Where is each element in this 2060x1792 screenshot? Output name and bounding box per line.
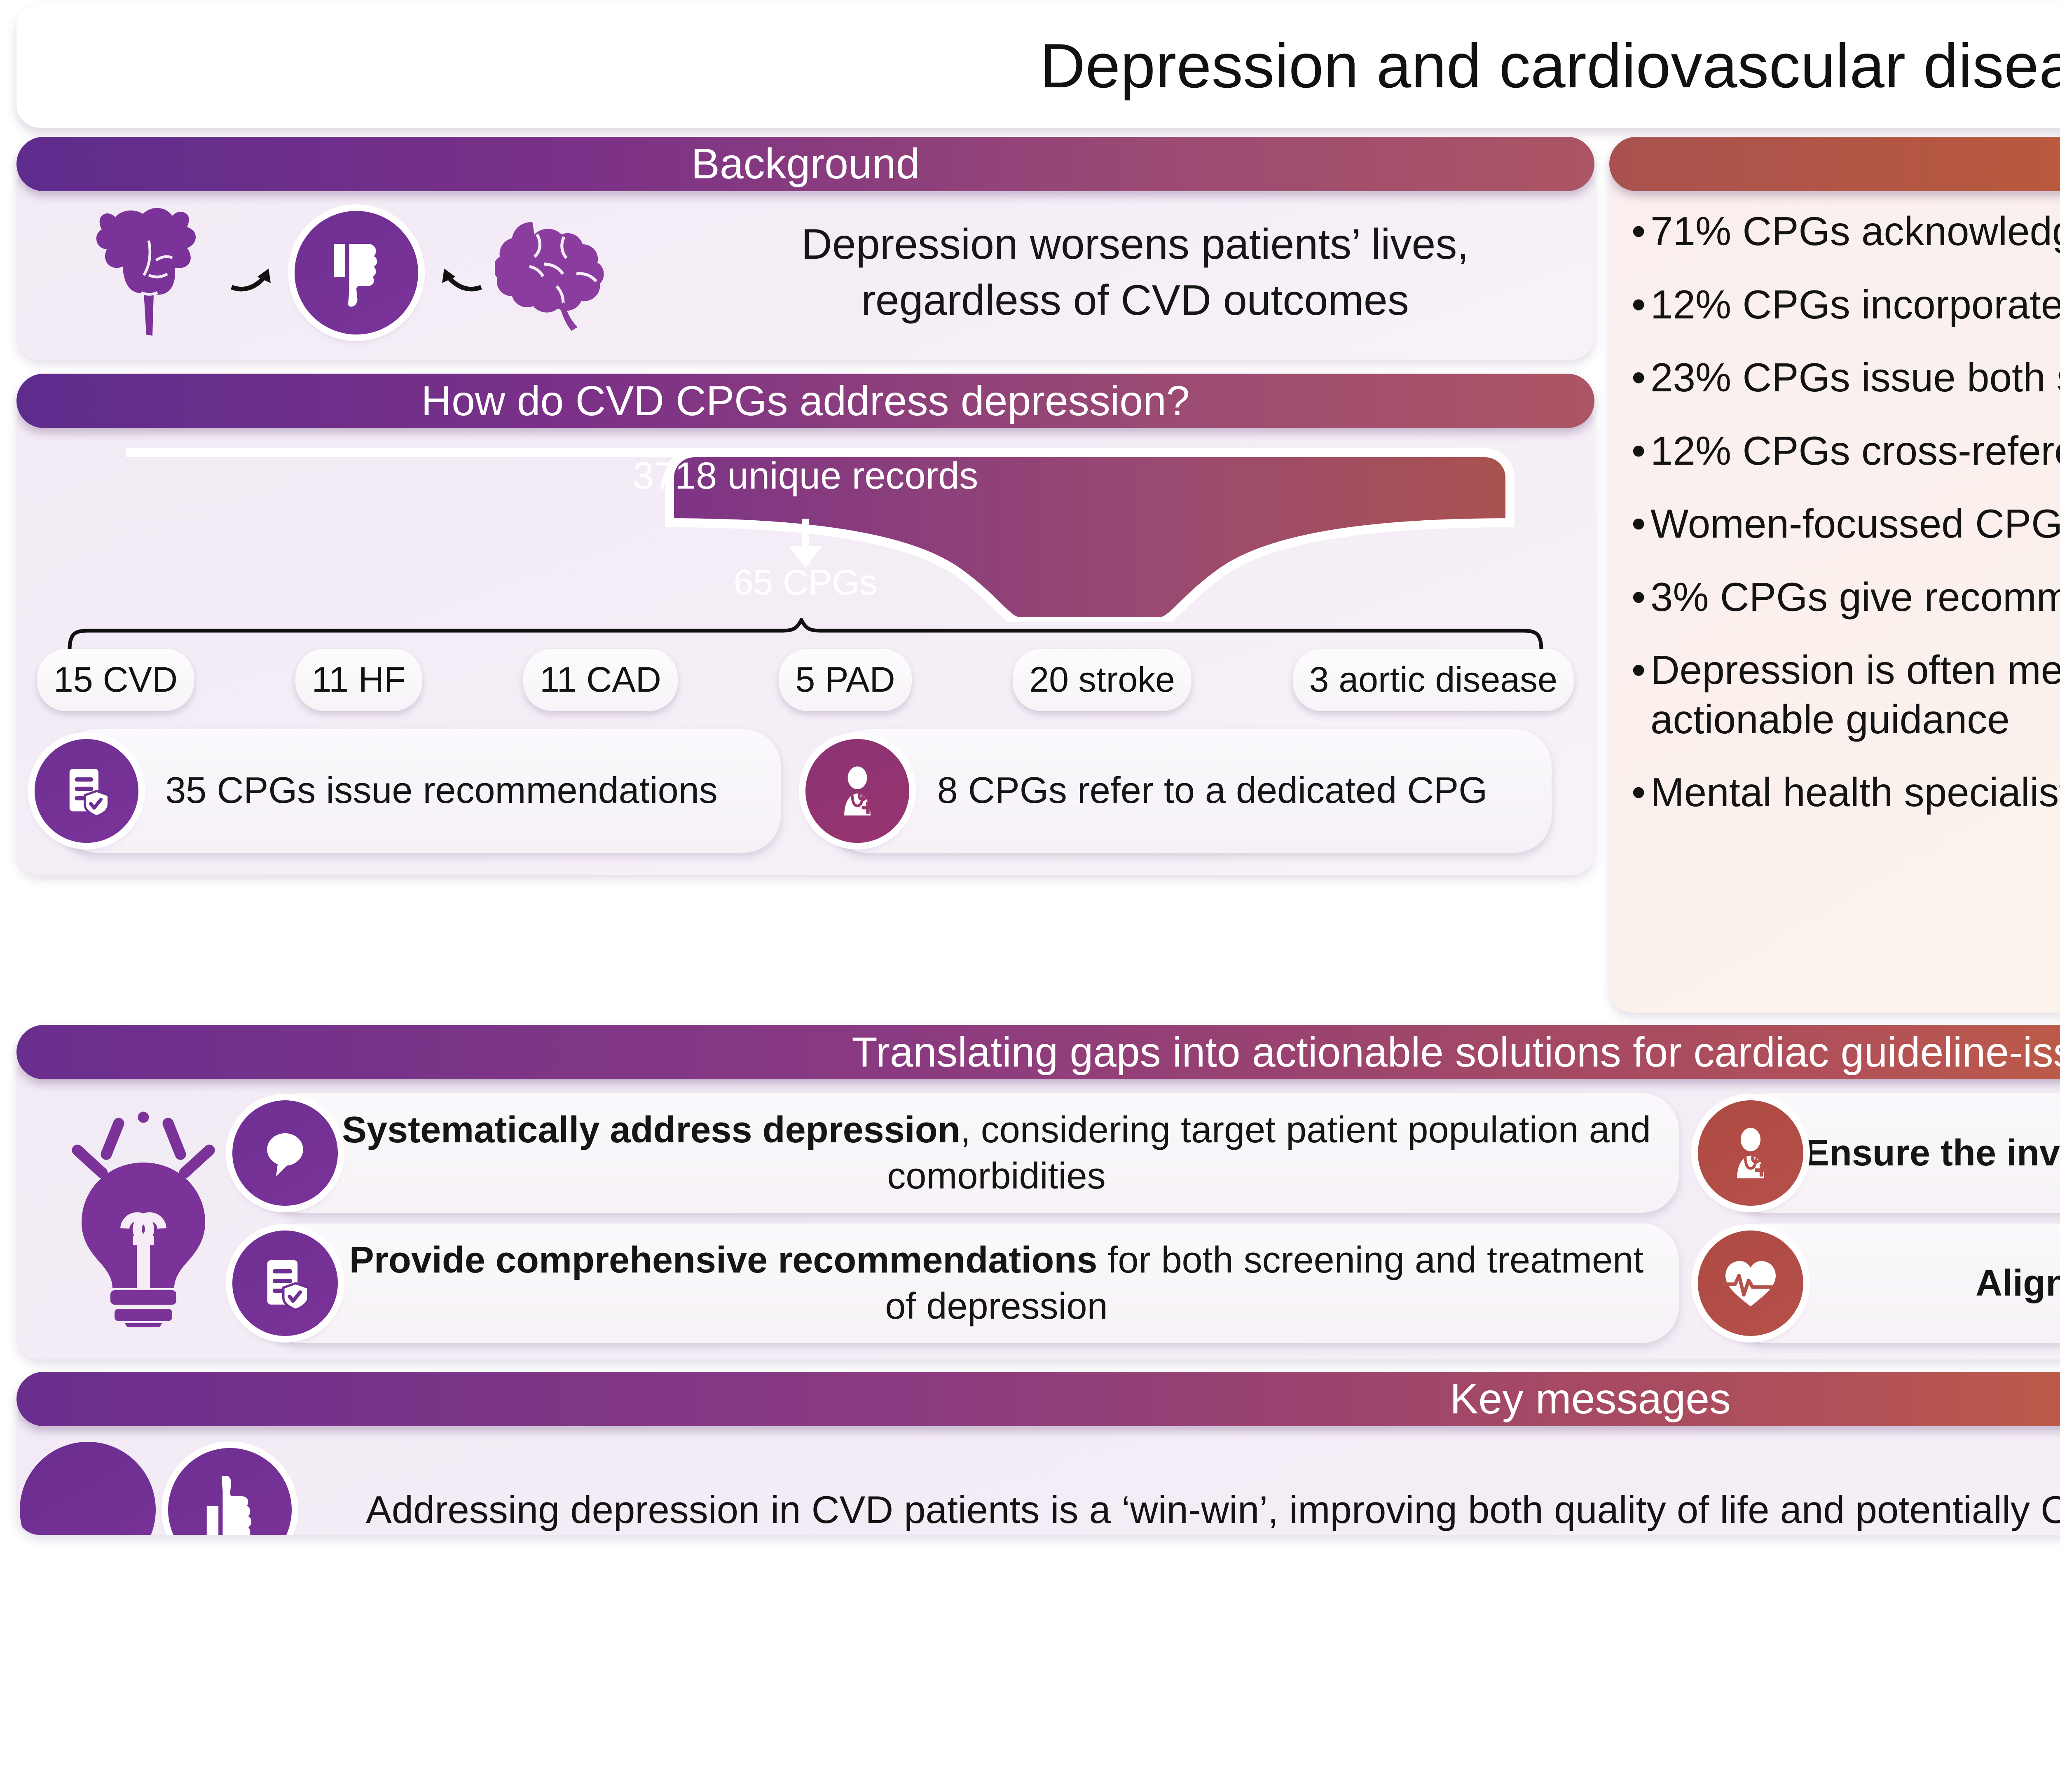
- list-item-label: 12% CPGs cross-reference to a dedicated …: [1650, 426, 2060, 476]
- solution-text: Ensure the involvement of mental health …: [1801, 1130, 2060, 1177]
- solution-grid: Systematically address depression, consi…: [263, 1093, 2060, 1343]
- bullet-icon: •: [1632, 280, 1650, 330]
- bullet-icon: •: [1632, 768, 1650, 817]
- heart-icon: [94, 204, 218, 342]
- category-pill[interactable]: 3 aortic disease: [1293, 649, 1574, 711]
- document-check-icon: [232, 1231, 338, 1336]
- category-pill[interactable]: 5 PAD: [779, 649, 911, 711]
- key-findings-list: • 71% CPGs acknowledge depression • 12% …: [1632, 207, 2060, 817]
- left-column: Background: [16, 137, 1594, 875]
- page-title: Depression and cardiovascular disease: [1040, 30, 2060, 102]
- translating-heading-banner: Translating gaps into actionable solutio…: [16, 1025, 2060, 1079]
- list-item: • Depression is often mentioned in CPGs …: [1632, 646, 2060, 744]
- bullet-icon: •: [1632, 353, 1650, 402]
- list-item: • Mental health specialists are seldom i…: [1632, 768, 2060, 817]
- solution-bold: Ensure the involvement of mental health: [1805, 1132, 2060, 1174]
- list-item-label: 3% CPGs give recommendations for DDI man…: [1650, 573, 2060, 622]
- solution-card: Systematically address depression, consi…: [263, 1093, 1679, 1213]
- list-item-label: 12% CPGs incorporate input from mental h…: [1650, 280, 2060, 330]
- list-item: • 12% CPGs incorporate input from mental…: [1632, 280, 2060, 330]
- solution-text: Systematically address depression, consi…: [335, 1107, 1657, 1200]
- solution-bold: Systematically address depression: [342, 1109, 960, 1151]
- right-column: Key findings • 71% CPGs acknowledge depr…: [1609, 137, 2060, 1013]
- bullet-icon: •: [1632, 207, 1650, 256]
- document-check-icon: [35, 739, 138, 843]
- funnel-diagram: 3718 unique records 65 CPGs: [35, 440, 1576, 622]
- cpg-panel: 3718 unique records 65 CPGs 15 CVD 11 HF…: [16, 401, 1594, 875]
- poster-root: Depression and cardiovascular disease Ba…: [0, 4, 2060, 1792]
- funnel-top-label: 3718 unique records: [35, 454, 1576, 498]
- solution-card: Align approaches across cardiac societie…: [1728, 1224, 2060, 1343]
- list-item-label: 71% CPGs acknowledge depression: [1650, 207, 2060, 256]
- bullet-icon: •: [1632, 499, 1650, 549]
- bullet-icon: •: [1632, 573, 1650, 622]
- lightbulb-icon: [36, 1109, 250, 1327]
- background-panel: Depression worsens patients’ lives, rega…: [16, 164, 1594, 360]
- solution-card: Provide comprehensive recommendations fo…: [263, 1224, 1679, 1343]
- category-brace: [35, 618, 1576, 651]
- background-statement: Depression worsens patients’ lives, rega…: [700, 217, 1570, 328]
- list-item: • 3% CPGs give recommendations for DDI m…: [1632, 573, 2060, 622]
- doctor-icon: [1698, 1100, 1803, 1206]
- key-messages-heading-banner: Key messages: [16, 1372, 2060, 1426]
- list-item: • 23% CPGs issue both screening and trea…: [1632, 353, 2060, 402]
- solution-rest: , considering target patient population …: [887, 1109, 1651, 1197]
- upper-columns: Background: [16, 137, 2060, 1013]
- list-item: • 12% CPGs cross-reference to a dedicate…: [1632, 426, 2060, 476]
- solution-text: Align approaches across cardiac societie…: [1801, 1260, 2060, 1307]
- cpg-outcome-text: 8 CPGs refer to a dedicated CPG: [892, 768, 1533, 814]
- cpg-heading-label: How do CVD CPGs address depression?: [421, 377, 1189, 425]
- speech-bubble-icon: [232, 1100, 338, 1206]
- category-pill[interactable]: 15 CVD: [37, 649, 194, 711]
- cpg-outcome-card: 35 CPGs issue recommendations: [59, 729, 781, 853]
- key-messages-text: Addressing depression in CVD patients is…: [362, 1487, 2060, 1533]
- bullet-icon: •: [1632, 646, 1650, 744]
- key-findings-heading-banner: Key findings: [1609, 137, 2060, 191]
- cpg-outcome-row: 35 CPGs issue recommendations: [35, 729, 1576, 859]
- category-pill[interactable]: 20 stroke: [1013, 649, 1192, 711]
- doctor-icon: [805, 739, 909, 843]
- background-icon-group: [41, 204, 684, 342]
- category-pill-list: 15 CVD 11 HF 11 CAD 5 PAD 20 stroke 3 ao…: [35, 649, 1576, 711]
- list-item: • 71% CPGs acknowledge depression: [1632, 207, 2060, 256]
- list-item-label: 23% CPGs issue both screening and treatm…: [1650, 353, 2060, 402]
- background-heading-label: Background: [691, 140, 920, 189]
- translating-heading-label: Translating gaps into actionable solutio…: [852, 1028, 2060, 1076]
- translating-panel: Systematically address depression, consi…: [16, 1052, 2060, 1359]
- list-item-label: Women-focussed CPGs give no treatment re…: [1650, 499, 2060, 549]
- list-item-label: Mental health specialists are seldom inv…: [1650, 768, 2060, 817]
- thumbs-up-icon: [168, 1448, 292, 1535]
- cpg-outcome-card: 8 CPGs refer to a dedicated CPG: [830, 729, 1552, 853]
- arrow-left-icon: [426, 242, 487, 304]
- funnel-bottom-label: 65 CPGs: [35, 562, 1576, 603]
- category-pill[interactable]: 11 CAD: [523, 649, 678, 711]
- solution-text: Provide comprehensive recommendations fo…: [335, 1237, 1657, 1330]
- key-findings-panel: • 71% CPGs acknowledge depression • 12% …: [1609, 164, 2060, 1013]
- solution-bold: Align approaches: [1976, 1263, 2060, 1304]
- solution-bold: Provide comprehensive recommendations: [349, 1240, 1098, 1281]
- list-item-label: Depression is often mentioned in CPGs bu…: [1650, 646, 2060, 744]
- bullet-icon: •: [1632, 426, 1650, 476]
- solution-card: Ensure the involvement of mental health …: [1728, 1093, 2060, 1213]
- poster-title-card: Depression and cardiovascular disease: [16, 4, 2060, 128]
- list-item: • Women-focussed CPGs give no treatment …: [1632, 499, 2060, 549]
- category-pill[interactable]: 11 HF: [295, 649, 422, 711]
- thumbs-down-icon: [295, 211, 418, 335]
- cpg-heading-banner: How do CVD CPGs address depression?: [16, 374, 1594, 428]
- background-heading-banner: Background: [16, 137, 1594, 191]
- cpg-outcome-text: 35 CPGs issue recommendations: [121, 768, 762, 814]
- heart-pulse-icon: [1698, 1231, 1803, 1336]
- brain-icon: [495, 210, 631, 335]
- key-messages-icon-group: [36, 1442, 349, 1535]
- key-messages-heading-label: Key messages: [1450, 1375, 1731, 1424]
- circle-shape: [20, 1442, 156, 1535]
- arrow-right-icon: [225, 242, 287, 304]
